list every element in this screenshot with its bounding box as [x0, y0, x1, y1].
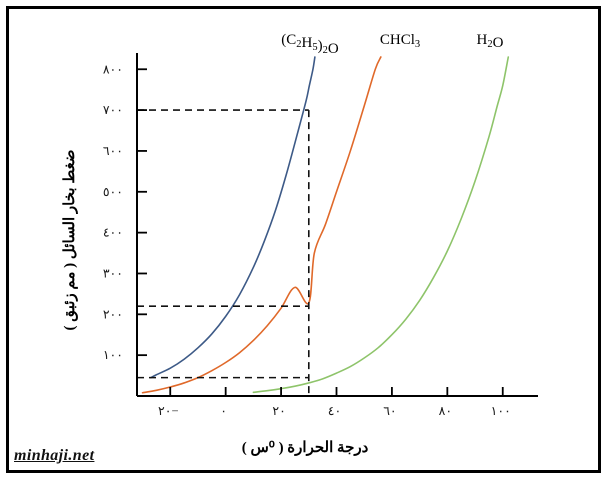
y-tick-label: ٦٠٠ [103, 144, 123, 158]
curve-h2o [253, 57, 508, 392]
series-label-h2o: H2O [477, 32, 504, 51]
x-tick-label: ٦٠ [383, 404, 396, 418]
curves-layer [143, 57, 509, 393]
series-label-(c2h5)2o: (C2H5)2O [281, 32, 339, 57]
series-labels-layer: (C2H5)2OCHCl3H2O [281, 32, 503, 57]
x-axis-title: درجة الحرارة ( ⁰س ) [242, 440, 369, 456]
x-tick-label: ٨٠ [439, 404, 452, 418]
x-tick-label: ١٠٠ [491, 404, 511, 418]
guide-lines-layer [137, 110, 309, 396]
y-tick-label: ٥٠٠ [103, 185, 123, 199]
axes-layer [137, 53, 538, 396]
chart-page: ١٠٠٢٠٠٣٠٠٤٠٠٥٠٠٦٠٠٧٠٠٨٠٠٢٠−٠٢٠٤٠٦٠٨٠١٠٠ … [0, 0, 607, 486]
vapor-pressure-chart: ١٠٠٢٠٠٣٠٠٤٠٠٥٠٠٦٠٠٧٠٠٨٠٠٢٠−٠٢٠٤٠٦٠٨٠١٠٠ … [0, 0, 607, 486]
x-tick-label: ٤٠ [328, 404, 341, 418]
y-tick-label: ٤٠٠ [103, 226, 123, 240]
curve-(c2h5)2o [151, 57, 315, 378]
y-tick-label: ٣٠٠ [103, 266, 123, 280]
y-tick-label: ٨٠٠ [103, 62, 123, 76]
watermark: minhaji.net [14, 447, 94, 465]
x-tick-label: ٢٠ [272, 404, 285, 418]
series-label-chcl3: CHCl3 [380, 32, 420, 50]
y-tick-label: ٢٠٠ [103, 307, 123, 321]
x-tick-label: ٠ [220, 404, 227, 418]
y-tick-label: ٧٠٠ [103, 103, 123, 117]
x-tick-label: ٢٠− [158, 404, 179, 418]
curve-chcl3 [143, 57, 381, 393]
tick-labels-layer: ١٠٠٢٠٠٣٠٠٤٠٠٥٠٠٦٠٠٧٠٠٨٠٠٢٠−٠٢٠٤٠٦٠٨٠١٠٠ [103, 62, 511, 418]
y-tick-label: ١٠٠ [103, 348, 123, 362]
y-axis-title: ضغط بخار السائل ( مم زئبق ) [62, 149, 78, 330]
